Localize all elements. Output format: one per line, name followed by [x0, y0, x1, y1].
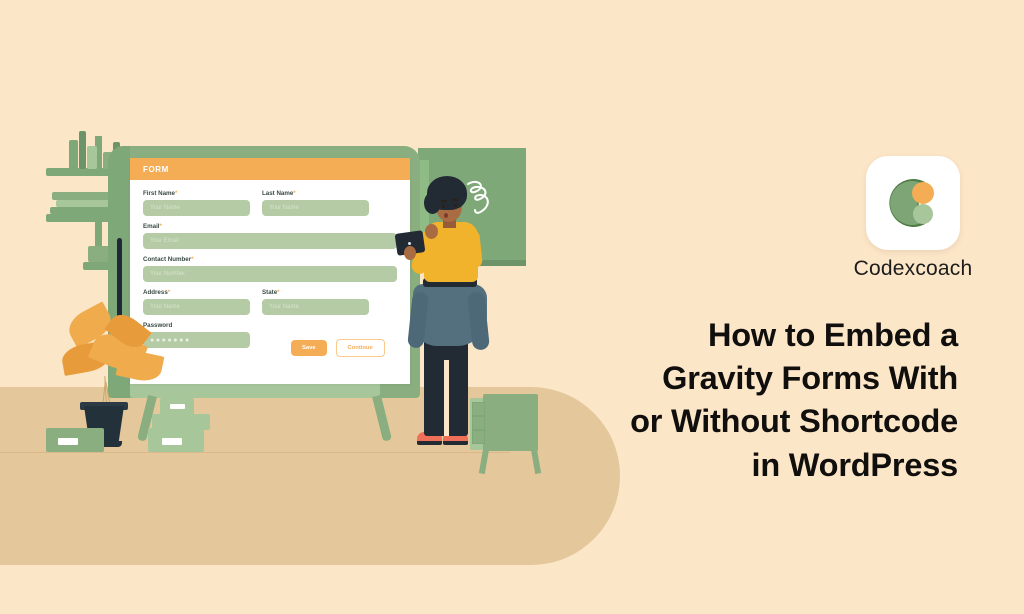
eyebrow-right: [452, 199, 458, 201]
field-password: Password ●●●●●●●: [143, 322, 250, 348]
password-masked-value: ●●●●●●●: [150, 337, 191, 344]
field-email: Email* Your Email: [143, 223, 397, 249]
headline-line-2: Gravity Forms With: [458, 357, 958, 400]
field-label-address: Address*: [143, 289, 250, 296]
brand-logo-tile: [866, 156, 960, 250]
whiteboard-ledge: [130, 382, 380, 398]
field-label-first-name: First Name*: [143, 190, 250, 197]
tablet-camera-dot: [408, 242, 411, 245]
label-text: State: [262, 289, 277, 296]
placeholder-contact-number: Your Number: [150, 271, 185, 277]
input-address[interactable]: Your Name: [143, 299, 250, 315]
field-label-password: Password: [143, 322, 250, 329]
required-asterisk: *: [160, 223, 162, 230]
required-asterisk: *: [175, 190, 177, 197]
input-email[interactable]: Your Email: [143, 233, 397, 249]
label-text: First Name: [143, 190, 175, 197]
placeholder-email: Your Email: [150, 238, 179, 244]
hand-holding-tablet: [404, 246, 416, 260]
save-button[interactable]: Save: [291, 340, 327, 356]
form-header-title: FORM: [143, 165, 169, 174]
placeholder-first-name: Your Name: [150, 205, 180, 211]
leg-gap: [444, 360, 449, 436]
form-header: FORM: [130, 158, 410, 180]
form-body: First Name* Your Name Last Name* Your Na…: [130, 180, 410, 357]
field-label-email: Email*: [143, 223, 397, 230]
poster-canvas: FORM First Name* Your Name Last Name*: [0, 0, 1024, 614]
field-contact-number: Contact Number* Your Number: [143, 256, 397, 282]
page-title: How to Embed a Gravity Forms With or Wit…: [458, 314, 958, 487]
required-asterisk: *: [191, 256, 193, 263]
eyebrow-left: [441, 200, 447, 202]
label-text: Address: [143, 289, 168, 296]
input-password[interactable]: ●●●●●●●: [143, 332, 250, 348]
label-text: Password: [143, 322, 172, 329]
input-contact-number[interactable]: Your Number: [143, 266, 397, 282]
shoe-sole-left: [417, 441, 442, 445]
input-state[interactable]: Your Name: [262, 299, 369, 315]
placeholder-address: Your Name: [150, 304, 180, 310]
required-asterisk: *: [277, 289, 279, 296]
field-address: Address* Your Name: [143, 289, 250, 315]
field-label-contact-number: Contact Number*: [143, 256, 397, 263]
floor-baseline: [0, 452, 510, 453]
placeholder-last-name: Your Name: [269, 205, 299, 211]
chalk-squiggle-icon: [462, 178, 496, 218]
form-actions: Save Continue: [291, 339, 397, 357]
input-last-name[interactable]: Your Name: [262, 200, 369, 216]
label-text: Last Name: [262, 190, 293, 197]
hair-side: [424, 192, 441, 214]
placeholder-state: Your Name: [269, 304, 299, 310]
required-asterisk: *: [293, 190, 295, 197]
field-last-name: Last Name* Your Name: [262, 190, 369, 216]
label-text: Contact Number: [143, 256, 191, 263]
headline-line-4: in WordPress: [458, 444, 958, 487]
required-asterisk: *: [168, 289, 170, 296]
input-first-name[interactable]: Your Name: [143, 200, 250, 216]
headline-line-1: How to Embed a: [458, 314, 958, 357]
headline-line-3: or Without Shortcode: [458, 400, 958, 443]
form-row-address: Address* Your Name State* Your Name: [143, 289, 397, 322]
label-text: Email: [143, 223, 160, 230]
field-label-last-name: Last Name*: [262, 190, 369, 197]
field-state: State* Your Name: [262, 289, 369, 315]
field-first-name: First Name* Your Name: [143, 190, 250, 216]
mouth: [444, 213, 448, 218]
codexcoach-c-logo-icon: [882, 172, 944, 234]
field-label-state: State*: [262, 289, 369, 296]
form-card: FORM First Name* Your Name Last Name*: [130, 158, 410, 384]
hand-gesture: [425, 224, 438, 239]
continue-button[interactable]: Continue: [336, 339, 385, 357]
brand-name: Codexcoach: [760, 257, 1024, 281]
form-row-name: First Name* Your Name Last Name* Your Na…: [143, 190, 397, 223]
